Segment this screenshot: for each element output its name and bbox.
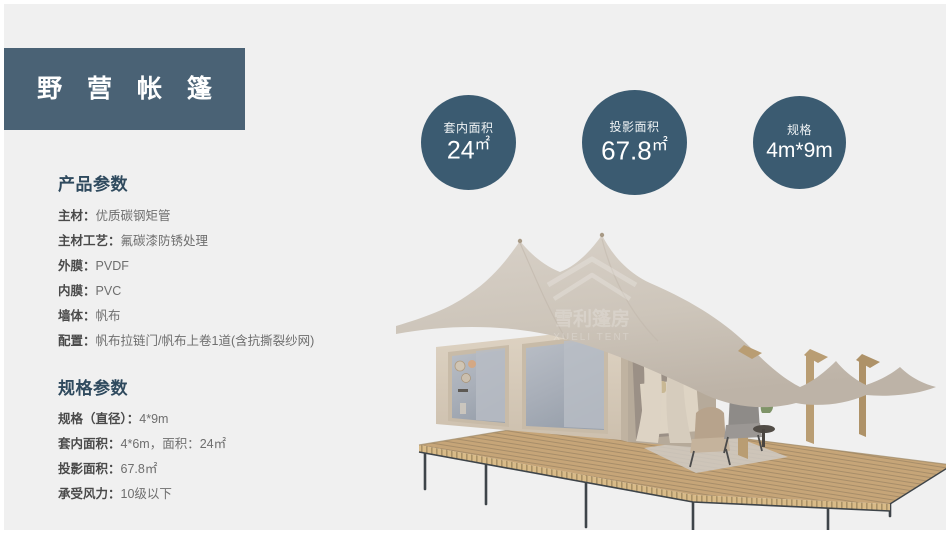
spec-label: 投影面积： bbox=[58, 462, 121, 476]
stat-label: 套内面积 bbox=[443, 121, 493, 135]
specifications-panel: 产品参数 主材：优质碳钢矩管 主材工艺：氟碳漆防锈处理 外膜：PVDF 内膜：P… bbox=[58, 176, 398, 521]
section-heading: 产品参数 bbox=[58, 176, 398, 195]
spec-value: 优质碳钢矩管 bbox=[96, 209, 171, 223]
spec-value: 67.8㎡ bbox=[121, 462, 158, 476]
spec-row: 规格（直径）：4*9m bbox=[58, 407, 398, 432]
spec-row: 套内面积：4*6m，面积：24㎡ bbox=[58, 432, 398, 457]
stat-label: 投影面积 bbox=[609, 120, 659, 134]
section-heading: 规格参数 bbox=[58, 380, 398, 399]
spec-row: 内膜：PVC bbox=[58, 279, 398, 304]
spec-row: 承受风力：10级以下 bbox=[58, 482, 398, 507]
stat-badge-dimensions: 规格 4m*9m bbox=[753, 96, 846, 189]
watermark-en-text: XUELI TENT bbox=[553, 332, 631, 343]
spec-row: 投影面积：67.8㎡ bbox=[58, 457, 398, 482]
spec-label: 主材： bbox=[58, 209, 96, 223]
stat-value: 67.8㎡ bbox=[601, 137, 668, 165]
spec-label: 内膜： bbox=[58, 284, 96, 298]
spec-label: 套内面积： bbox=[58, 437, 121, 451]
product-spec-page: 野 营 帐 篷 套内面积 24㎡ 投影面积 67.8㎡ 规格 4m*9m 产品参… bbox=[0, 0, 950, 534]
product-parameters-section: 产品参数 主材：优质碳钢矩管 主材工艺：氟碳漆防锈处理 外膜：PVDF 内膜：P… bbox=[58, 176, 398, 354]
spec-label: 规格（直径）： bbox=[58, 412, 139, 426]
spec-value: PVDF bbox=[96, 259, 129, 273]
spec-label: 外膜： bbox=[58, 259, 96, 273]
spec-row: 外膜：PVDF bbox=[58, 254, 398, 279]
spec-label: 承受风力： bbox=[58, 487, 121, 501]
spec-value: 帆布拉链门/帆布上卷1道(含抗撕裂纱网) bbox=[96, 334, 315, 348]
page-title-banner: 野 营 帐 篷 bbox=[4, 48, 245, 130]
spec-row: 主材：优质碳钢矩管 bbox=[58, 204, 398, 229]
spec-row: 配置：帆布拉链门/帆布上卷1道(含抗撕裂纱网) bbox=[58, 329, 398, 354]
stat-unit: ㎡ bbox=[652, 136, 668, 154]
stat-value: 4m*9m bbox=[766, 140, 833, 162]
dimension-parameters-section: 规格参数 规格（直径）：4*9m 套内面积：4*6m，面积：24㎡ 投影面积：6… bbox=[58, 380, 398, 508]
stat-badge-interior-area: 套内面积 24㎡ bbox=[421, 95, 516, 190]
spec-row: 主材工艺：氟碳漆防锈处理 bbox=[58, 229, 398, 254]
spec-value: 氟碳漆防锈处理 bbox=[121, 234, 209, 248]
spec-label: 墙体： bbox=[58, 309, 96, 323]
spec-row: 墙体：帆布 bbox=[58, 304, 398, 329]
spec-value: 帆布 bbox=[96, 309, 121, 323]
product-render-image: 雪利篷房 XUELI TENT bbox=[396, 199, 950, 534]
stat-label: 规格 bbox=[787, 123, 812, 137]
page-title: 野 营 帐 篷 bbox=[28, 77, 221, 102]
spec-value: 10级以下 bbox=[121, 487, 172, 501]
stat-value: 24㎡ bbox=[447, 137, 490, 164]
spec-value: PVC bbox=[96, 284, 122, 298]
stat-unit: ㎡ bbox=[475, 136, 491, 153]
spec-label: 主材工艺： bbox=[58, 234, 121, 248]
stat-badge-projected-area: 投影面积 67.8㎡ bbox=[582, 90, 687, 195]
watermark-cn-text: 雪利篷房 bbox=[554, 307, 630, 330]
spec-value: 4*6m，面积：24㎡ bbox=[121, 437, 227, 451]
spec-value: 4*9m bbox=[139, 412, 168, 426]
spec-label: 配置： bbox=[58, 334, 96, 348]
